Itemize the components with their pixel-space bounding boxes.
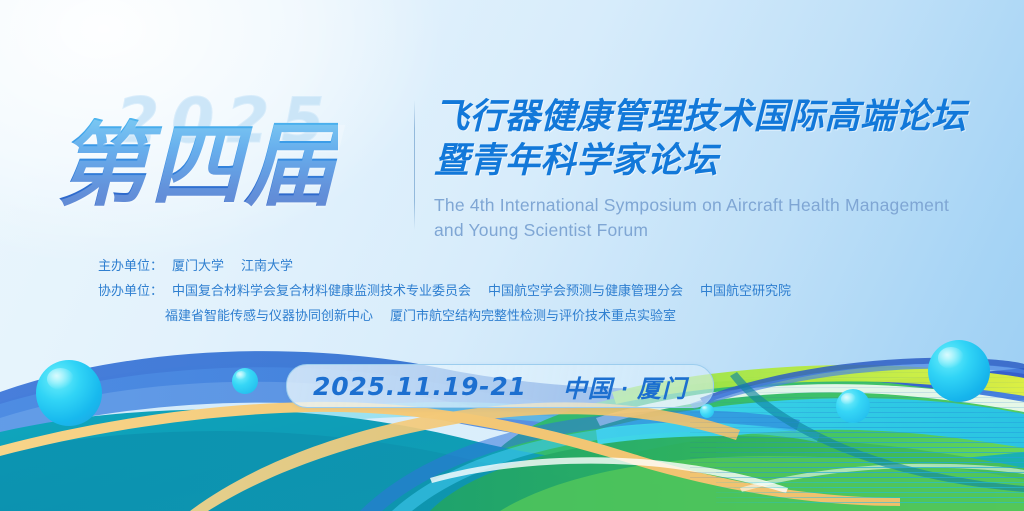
title-english-line-2: and Young Scientist Forum xyxy=(434,218,994,243)
event-date: 2025.11.19-21 xyxy=(313,372,527,401)
title-divider xyxy=(414,100,415,230)
host-label: 主办单位： xyxy=(98,253,163,278)
coorganizer-item: 中国航空研究院 xyxy=(700,283,791,298)
sphere-decoration xyxy=(700,404,714,418)
title-chinese-line-1: 飞行器健康管理技术国际高端论坛 xyxy=(434,96,994,137)
sphere-decoration xyxy=(928,340,990,402)
title-chinese-line-2: 暨青年科学家论坛 xyxy=(434,140,994,181)
line-pattern-decoration-cyan xyxy=(716,392,1024,504)
coorganizer-values-1: 中国复合材料学会复合材料健康监测技术专业委员会中国航空学会预测与健康管理分会中国… xyxy=(172,278,808,303)
edition-heading: 第四届 xyxy=(56,118,338,214)
host-item: 江南大学 xyxy=(241,258,293,273)
event-location: 中国 · 厦门 xyxy=(563,369,687,404)
coorganizer-item: 中国航空学会预测与健康管理分会 xyxy=(488,283,683,298)
coorganizer-row-1: 协办单位： 中国复合材料学会复合材料健康监测技术专业委员会中国航空学会预测与健康… xyxy=(98,278,808,303)
coorganizer-item: 厦门市航空结构完整性检测与评价技术重点实验室 xyxy=(390,308,676,323)
coorganizer-item: 福建省智能传感与仪器协同创新中心 xyxy=(165,308,373,323)
organizers-block: 主办单位： 厦门大学江南大学 协办单位： 中国复合材料学会复合材料健康监测技术专… xyxy=(98,253,808,328)
sphere-decoration xyxy=(232,368,258,394)
coorganizer-label: 协办单位： xyxy=(98,278,163,303)
host-values: 厦门大学江南大学 xyxy=(172,253,310,278)
coorganizer-row-2: 福建省智能传感与仪器协同创新中心厦门市航空结构完整性检测与评价技术重点实验室 xyxy=(165,303,808,328)
host-row: 主办单位： 厦门大学江南大学 xyxy=(98,253,808,278)
conference-poster-banner: 2025 第四届 飞行器健康管理技术国际高端论坛 暨青年科学家论坛 The 4t… xyxy=(0,0,1024,511)
sphere-decoration xyxy=(836,389,870,423)
title-english-line-1: The 4th International Symposium on Aircr… xyxy=(434,193,994,218)
sphere-decoration xyxy=(36,360,102,426)
coorganizer-item: 中国复合材料学会复合材料健康监测技术专业委员会 xyxy=(172,283,471,298)
host-item: 厦门大学 xyxy=(172,258,224,273)
title-block: 飞行器健康管理技术国际高端论坛 暨青年科学家论坛 The 4th Interna… xyxy=(434,96,994,243)
event-date-location-pill: 2025.11.19-21 中国 · 厦门 xyxy=(286,364,714,408)
title-english: The 4th International Symposium on Aircr… xyxy=(434,193,994,243)
